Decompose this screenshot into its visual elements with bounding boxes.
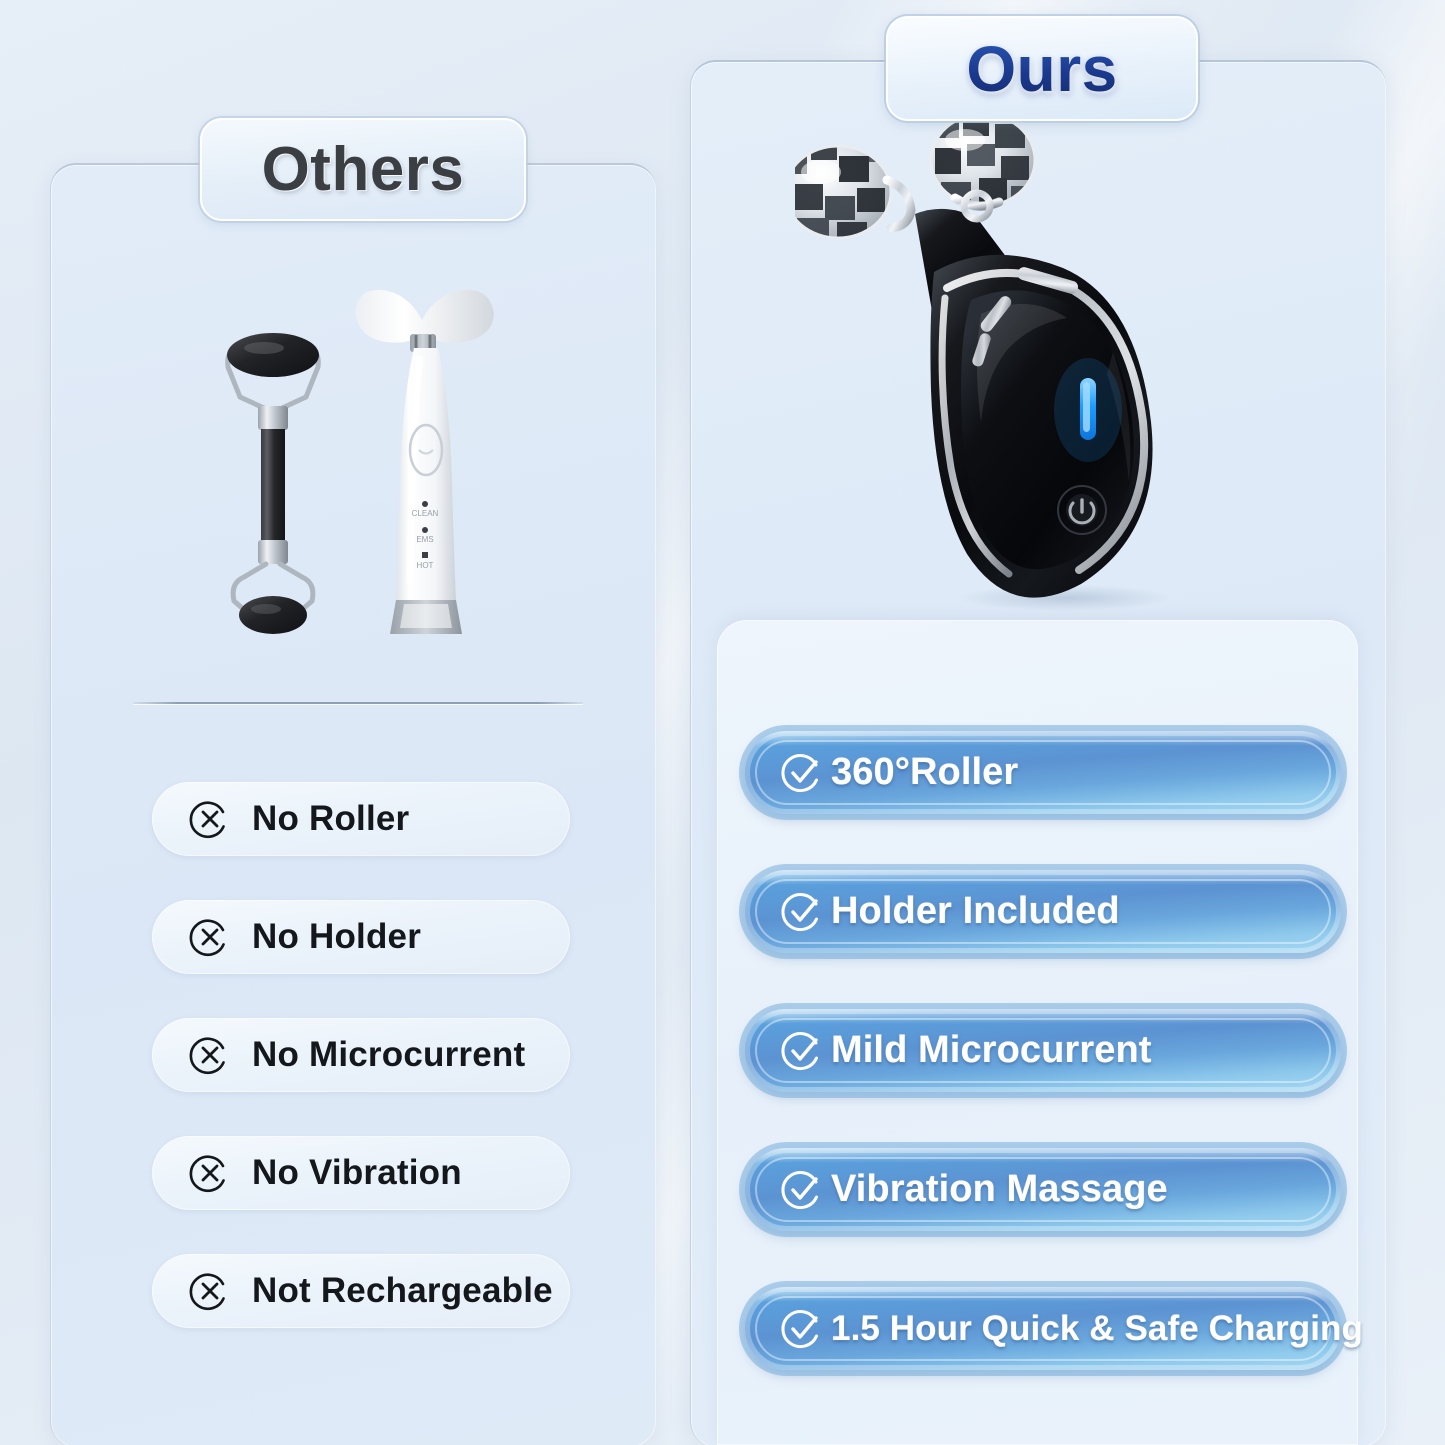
ours-feature-vibration-massage[interactable]: Vibration Massage <box>745 1148 1341 1231</box>
ours-feature-holder-included[interactable]: Holder Included <box>745 870 1341 953</box>
circle-x-icon <box>186 1267 234 1315</box>
ours-feature-label: Mild Microcurrent <box>831 1029 1152 1072</box>
svg-text:EMS: EMS <box>416 535 433 544</box>
others-feature-label: No Vibration <box>252 1153 462 1193</box>
others-badge-label: Others <box>262 139 465 201</box>
circle-x-icon <box>186 1031 234 1079</box>
circle-check-icon <box>777 887 827 937</box>
ours-feature-label: 360°Roller <box>831 751 1018 794</box>
others-feature-label: Not Rechargeable <box>252 1271 553 1311</box>
others-feature-label: No Holder <box>252 917 421 957</box>
ours-badge: Ours <box>886 16 1198 121</box>
svg-text:CLEAN: CLEAN <box>412 509 439 518</box>
others-feature-label: No Roller <box>252 799 409 839</box>
circle-check-icon <box>777 1165 827 1215</box>
circle-check-icon <box>777 748 827 798</box>
others-feature-no-microcurrent[interactable]: No Microcurrent <box>152 1018 570 1092</box>
white-neck-beauty-device: CLEAN EMS HOT <box>352 282 497 650</box>
ours-feature-label: Holder Included <box>831 890 1120 933</box>
others-feature-no-roller[interactable]: No Roller <box>152 782 570 856</box>
others-divider <box>133 702 583 704</box>
ours-badge-label: Ours <box>966 37 1117 101</box>
circle-x-icon <box>186 1149 234 1197</box>
circle-check-icon <box>777 1304 827 1354</box>
ours-feature-360-roller[interactable]: 360°Roller <box>745 731 1341 814</box>
ours-feature-quick-safe-charging[interactable]: 1.5 Hour Quick & Safe Charging <box>745 1287 1341 1370</box>
black-dual-roller-microcurrent-massager <box>795 122 1185 602</box>
ours-feature-mild-microcurrent[interactable]: Mild Microcurrent <box>745 1009 1341 1092</box>
others-feature-not-rechargeable[interactable]: Not Rechargeable <box>152 1254 570 1328</box>
ours-feature-label: Vibration Massage <box>831 1168 1168 1211</box>
others-badge: Others <box>200 118 526 221</box>
jade-face-roller <box>218 305 328 655</box>
ours-feature-label: 1.5 Hour Quick & Safe Charging <box>831 1309 1363 1349</box>
comparison-infographic: CLEAN EMS HOT No Roller No Holder No Mic… <box>0 0 1445 1445</box>
circle-check-icon <box>777 1026 827 1076</box>
circle-x-icon <box>186 913 234 961</box>
others-feature-label: No Microcurrent <box>252 1035 525 1075</box>
svg-text:HOT: HOT <box>417 561 434 570</box>
others-feature-no-vibration[interactable]: No Vibration <box>152 1136 570 1210</box>
circle-x-icon <box>186 795 234 843</box>
others-feature-no-holder[interactable]: No Holder <box>152 900 570 974</box>
